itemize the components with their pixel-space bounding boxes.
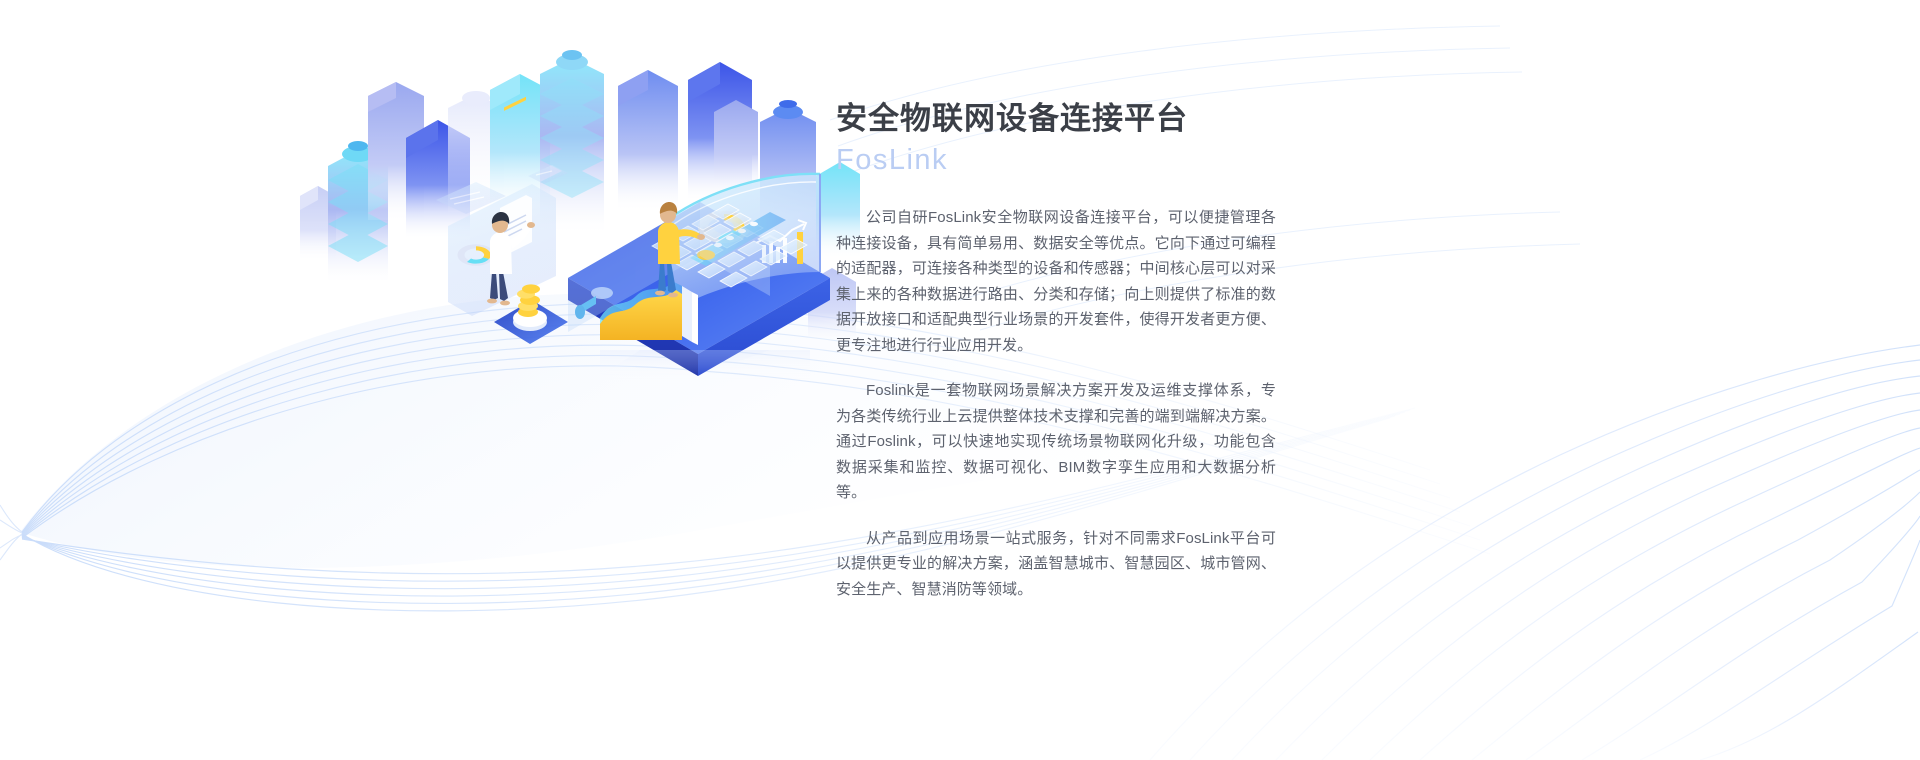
- product-name: FosLink: [836, 142, 1276, 180]
- hero-section: 安全物联网设备连接平台 FosLink 公司自研FosLink安全物联网设备连接…: [0, 0, 1920, 760]
- building-block-6: [714, 100, 758, 190]
- illustration-iot-platform: [300, 50, 860, 380]
- description-block: 公司自研FosLink安全物联网设备连接平台，可以便捷管理各种连接设备，具有简单…: [836, 205, 1276, 602]
- page-title: 安全物联网设备连接平台: [836, 100, 1276, 139]
- platform-reflection: [600, 350, 810, 380]
- building-block-4: [618, 70, 678, 210]
- paragraph-1: 公司自研FosLink安全物联网设备连接平台，可以便捷管理各种连接设备，具有简单…: [836, 205, 1276, 358]
- paragraph-3: 从产品到应用场景一站式服务，针对不同需求FosLink平台可以提供更专业的解决方…: [836, 526, 1276, 603]
- hero-content: 安全物联网设备连接平台 FosLink 公司自研FosLink安全物联网设备连接…: [836, 100, 1276, 602]
- wave-tail-left: [0, 505, 22, 560]
- paragraph-2: Foslink是一套物联网场景解决方案开发及运维支撑体系，专为各类传统行业上云提…: [836, 378, 1276, 506]
